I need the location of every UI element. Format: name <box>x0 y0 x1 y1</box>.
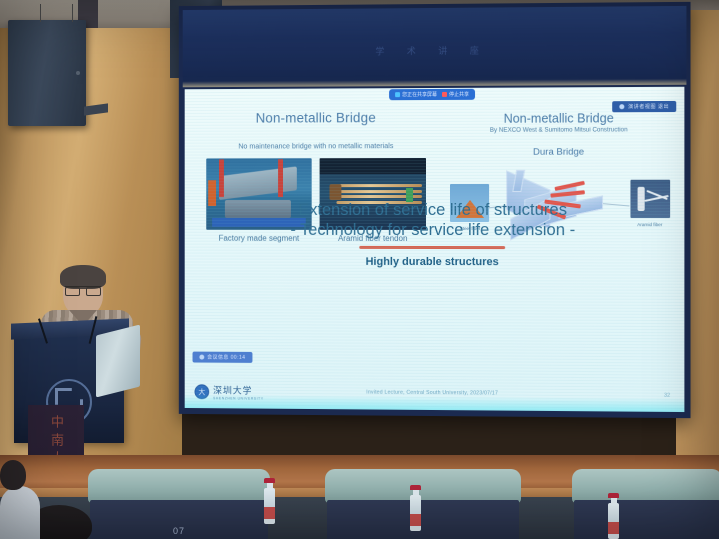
red-underline <box>359 246 505 249</box>
stop-icon <box>442 92 447 97</box>
left-panel-note: No maintenance bridge with no metallic m… <box>198 141 434 151</box>
dura-bridge-title: Dura Bridge <box>444 146 674 158</box>
seat-panel <box>327 500 519 539</box>
valance-text: 学 术 讲 座 <box>183 42 687 58</box>
meeting-info-label: 会议信息 00:14 <box>207 354 245 361</box>
audience-member <box>0 460 26 490</box>
glasses-icon <box>65 286 101 293</box>
seat-panel: 07 <box>90 500 268 539</box>
projection-screen-frame: 学 术 讲 座 您正在共享屏幕 停止共享 演讲者视图 退出 <box>179 2 691 418</box>
photo-detail <box>329 184 341 200</box>
bottle-label <box>264 507 275 519</box>
seat-back <box>325 469 521 503</box>
right-panel-subtitle: By NEXCO West & Sumitomo Mitsui Construc… <box>444 126 674 134</box>
stop-share-label: 停止共享 <box>449 91 469 98</box>
monitor-icon <box>395 92 400 97</box>
audience-seat[interactable] <box>572 469 719 539</box>
bottle-label <box>410 514 421 526</box>
slide-headline: Extension of service life of structures … <box>185 200 685 240</box>
screen-bottom-glow <box>185 394 685 412</box>
water-bottle <box>410 485 421 531</box>
share-status-chip: 您正在共享屏幕 <box>395 91 437 98</box>
audience-member <box>0 486 40 539</box>
bottle-body <box>608 503 619 539</box>
view-icon <box>619 104 624 109</box>
audience-seat[interactable] <box>325 469 521 539</box>
water-bottle <box>608 493 619 539</box>
ceiling-speaker-icon <box>8 20 86 126</box>
meeting-info-badge[interactable]: 会议信息 00:14 <box>193 352 253 363</box>
speaker-wire <box>72 4 73 22</box>
share-status-label: 您正在共享屏幕 <box>402 91 437 98</box>
seat-number: 07 <box>90 526 268 536</box>
valance-glow <box>183 79 687 88</box>
bottle-body <box>264 488 275 524</box>
bottle-body <box>410 495 421 531</box>
photo-detail <box>320 158 426 174</box>
photo-detail <box>337 184 422 187</box>
headline-line-1: Extension of service life of structures <box>185 200 685 220</box>
water-bottle <box>264 478 275 524</box>
lecture-hall-photo: 学 术 讲 座 您正在共享屏幕 停止共享 演讲者视图 退出 <box>0 0 719 539</box>
photo-detail <box>219 160 224 197</box>
screen-share-toolbar[interactable]: 您正在共享屏幕 停止共享 <box>389 89 475 100</box>
presenter-view-label: 演讲者视图 退出 <box>628 103 669 110</box>
info-icon <box>199 355 204 360</box>
audience-seat[interactable]: 07 <box>88 469 270 539</box>
bottle-label <box>608 522 619 534</box>
laptop <box>96 325 140 398</box>
seat-panel <box>574 500 719 539</box>
screen-valance: 学 术 讲 座 <box>183 6 687 87</box>
headline-line-2: - Technology for service life extension … <box>185 220 685 240</box>
presenter-view-badge[interactable]: 演讲者视图 退出 <box>612 101 676 112</box>
presentation-slide: 您正在共享屏幕 停止共享 演讲者视图 退出 会议信息 00:14 Non-met… <box>185 87 685 412</box>
photo-detail <box>278 160 283 197</box>
seat-back <box>88 469 270 503</box>
right-panel-title: Non-metallic Bridge <box>444 111 674 126</box>
slide-subheadline: Highly durable structures <box>185 256 685 269</box>
stop-share-chip[interactable]: 停止共享 <box>442 91 469 98</box>
left-panel-title: Non-metallic Bridge <box>198 110 434 126</box>
seat-back <box>572 469 719 503</box>
speaker-wire <box>40 4 41 22</box>
